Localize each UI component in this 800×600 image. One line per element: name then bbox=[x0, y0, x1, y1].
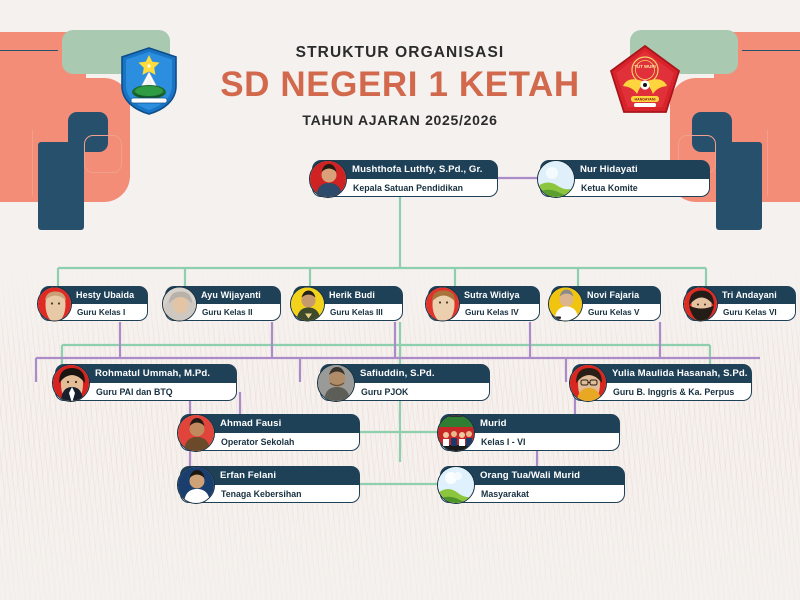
avatar-principal bbox=[309, 160, 347, 198]
svg-text:HANDAYANI: HANDAYANI bbox=[635, 98, 656, 102]
avatar-operator bbox=[177, 414, 215, 452]
org-node-teacher-class-5[interactable]: Novi Fajaria Guru Kelas V bbox=[551, 286, 661, 321]
avatar-cleaner bbox=[177, 466, 215, 504]
org-node-teacher-class-6[interactable]: Tri Andayani Guru Kelas VI bbox=[686, 286, 796, 321]
avatar-teacher-pjok bbox=[317, 364, 355, 402]
avatar-teacher-class-2 bbox=[162, 286, 197, 321]
east-java-provincial-emblem-logo bbox=[118, 46, 180, 116]
svg-text:TUT WURI: TUT WURI bbox=[634, 64, 655, 69]
avatar-students bbox=[437, 414, 475, 452]
avatar-parents bbox=[437, 466, 475, 504]
org-node-teacher-class-2[interactable]: Ayu Wijayanti Guru Kelas II bbox=[165, 286, 281, 321]
avatar-teacher-pai bbox=[52, 364, 90, 402]
avatar-committee bbox=[537, 160, 575, 198]
org-node-principal[interactable]: Mushthofa Luthfy, S.Pd., Gr. Kepala Satu… bbox=[312, 160, 498, 197]
org-node-committee[interactable]: Nur Hidayati Ketua Komite bbox=[540, 160, 710, 197]
avatar-teacher-class-3 bbox=[290, 286, 325, 321]
org-node-teacher-pjok[interactable]: Safiuddin, S.Pd. Guru PJOK bbox=[320, 364, 490, 401]
avatar-teacher-class-1 bbox=[37, 286, 72, 321]
org-node-cleaner[interactable]: Erfan Felani Tenaga Kebersihan bbox=[180, 466, 360, 503]
org-node-teacher-class-3[interactable]: Herik Budi Guru Kelas III bbox=[293, 286, 403, 321]
org-node-teacher-class-1[interactable]: Hesty Ubaida Guru Kelas I bbox=[40, 286, 148, 321]
tut-wuri-handayani-emblem-logo: TUT WURI HANDAYANI bbox=[608, 44, 682, 118]
org-node-teacher-english[interactable]: Yulia Maulida Hasanah, S.Pd. Guru B. Ing… bbox=[572, 364, 752, 401]
org-node-operator[interactable]: Ahmad Fausi Operator Sekolah bbox=[180, 414, 360, 451]
org-node-teacher-pai[interactable]: Rohmatul Ummah, M.Pd. Guru PAI dan BTQ bbox=[55, 364, 237, 401]
avatar-teacher-english bbox=[569, 364, 607, 402]
avatar-teacher-class-5 bbox=[548, 286, 583, 321]
avatar-teacher-class-6 bbox=[683, 286, 718, 321]
org-node-students[interactable]: Murid Kelas I - VI bbox=[440, 414, 620, 451]
org-node-parents[interactable]: Orang Tua/Wali Murid Masyarakat bbox=[440, 466, 625, 503]
avatar-teacher-class-4 bbox=[425, 286, 460, 321]
org-node-teacher-class-4[interactable]: Sutra Widiya Guru Kelas IV bbox=[428, 286, 540, 321]
